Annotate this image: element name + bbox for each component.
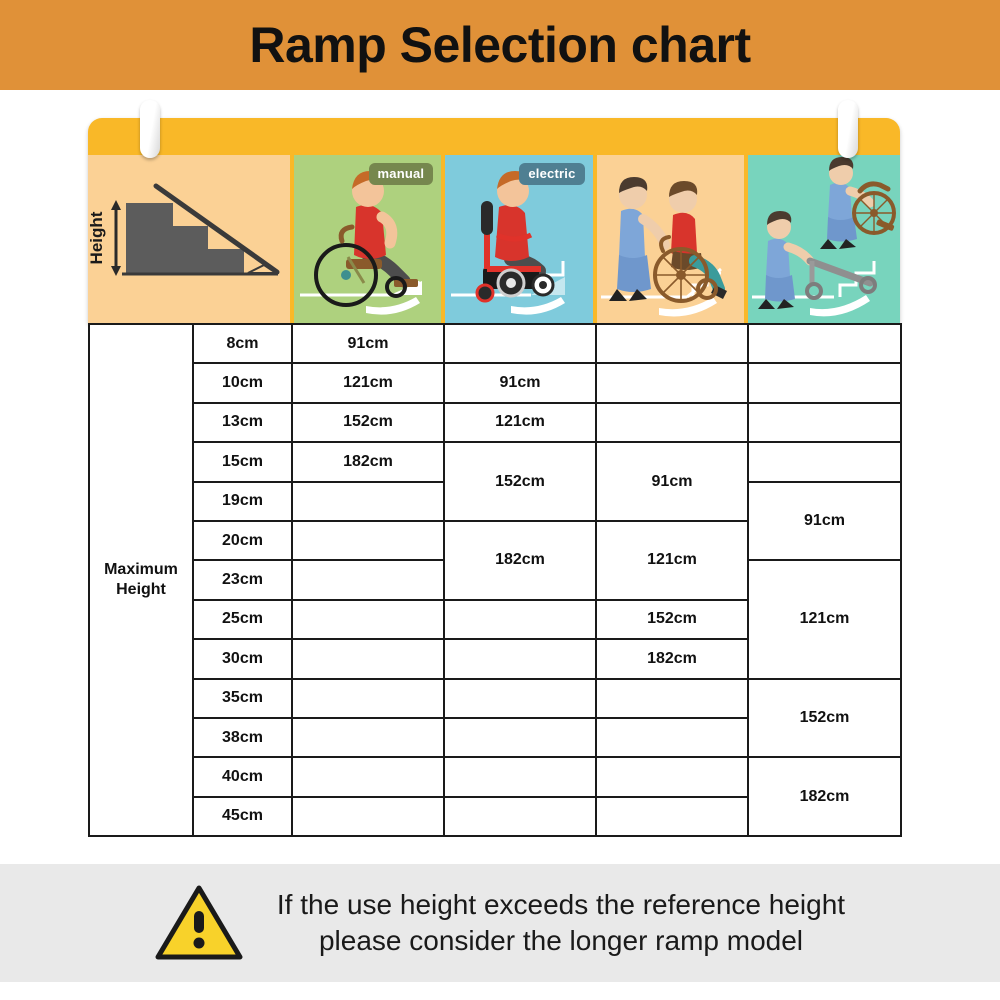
empty-cell-attendant <box>596 718 748 757</box>
height-cell: 10cm <box>193 363 292 402</box>
ramp-length-cell-carry: 182cm <box>748 757 901 836</box>
table-row: 35cm152cm <box>89 679 901 718</box>
ramp-length-cell-attendant: 91cm <box>596 442 748 521</box>
ramp-length-cell-electric: 182cm <box>444 521 596 600</box>
height-cell: 20cm <box>193 521 292 560</box>
empty-cell-carry <box>748 403 901 442</box>
page-title: Ramp Selection chart <box>249 20 750 70</box>
badge-electric: electric <box>519 163 584 185</box>
empty-cell-carry <box>748 324 901 363</box>
empty-cell-manual <box>292 757 444 796</box>
board-clip-right <box>838 100 858 158</box>
empty-cell-manual <box>292 482 444 521</box>
row-group-label-line-2: Height <box>90 580 192 600</box>
ramp-length-cell-manual: 121cm <box>292 363 444 402</box>
ramp-length-cell-attendant: 182cm <box>596 639 748 678</box>
header-panels: Height manual <box>88 155 900 323</box>
ramp-length-cell-manual: 182cm <box>292 442 444 481</box>
ramp-length-cell-electric: 152cm <box>444 442 596 521</box>
table-row: 13cm152cm121cm <box>89 403 901 442</box>
empty-cell-manual <box>292 639 444 678</box>
board-clip-left <box>140 100 160 158</box>
svg-text:Height: Height <box>88 211 106 264</box>
empty-cell-manual <box>292 521 444 560</box>
ramp-length-cell-attendant: 121cm <box>596 521 748 600</box>
warning-text: If the use height exceeds the reference … <box>277 887 845 959</box>
table-row: 40cm182cm <box>89 757 901 796</box>
panel-height-reference: Height <box>88 155 290 323</box>
empty-cell-manual <box>292 718 444 757</box>
table-row: 15cm182cm152cm91cm <box>89 442 901 481</box>
table-row: 10cm121cm91cm <box>89 363 901 402</box>
attendant-push-wheelchair-icon <box>597 155 744 323</box>
ramp-length-cell-manual: 152cm <box>292 403 444 442</box>
height-cell: 30cm <box>193 639 292 678</box>
empty-cell-electric <box>444 639 596 678</box>
empty-cell-attendant <box>596 797 748 836</box>
empty-cell-electric <box>444 718 596 757</box>
height-cell: 35cm <box>193 679 292 718</box>
ramp-length-cell-carry: 121cm <box>748 560 901 678</box>
table-body: MaximumHeight8cm91cm10cm121cm91cm13cm152… <box>89 324 901 836</box>
empty-cell-attendant <box>596 363 748 402</box>
empty-cell-attendant <box>596 403 748 442</box>
table-row: MaximumHeight8cm91cm <box>89 324 901 363</box>
height-cell: 13cm <box>193 403 292 442</box>
ramp-length-cell-electric: 91cm <box>444 363 596 402</box>
row-group-label: MaximumHeight <box>89 324 193 836</box>
empty-cell-electric <box>444 679 596 718</box>
panel-manual-wheelchair: manual <box>294 155 441 323</box>
ramp-selection-table: MaximumHeight8cm91cm10cm121cm91cm13cm152… <box>88 323 902 837</box>
height-cell: 8cm <box>193 324 292 363</box>
panel-electric-wheelchair: electric <box>445 155 592 323</box>
height-cell: 38cm <box>193 718 292 757</box>
panel-wheelchair-carry <box>748 155 900 323</box>
ramp-length-cell-carry: 152cm <box>748 679 901 758</box>
height-cell: 23cm <box>193 560 292 599</box>
warning-line-2: please consider the longer ramp model <box>277 923 845 959</box>
ramp-length-cell-electric: 121cm <box>444 403 596 442</box>
warning-line-1: If the use height exceeds the reference … <box>277 887 845 923</box>
empty-cell-manual <box>292 560 444 599</box>
empty-cell-carry <box>748 363 901 402</box>
ramp-length-cell-manual: 91cm <box>292 324 444 363</box>
ramp-length-cell-carry: 91cm <box>748 482 901 561</box>
height-cell: 15cm <box>193 442 292 481</box>
empty-cell-electric <box>444 600 596 639</box>
stairs-ramp-icon: Height <box>88 155 290 323</box>
empty-cell-manual <box>292 600 444 639</box>
panel-attendant-push <box>597 155 744 323</box>
warning-triangle-icon <box>155 883 243 963</box>
title-bar: Ramp Selection chart <box>0 0 1000 90</box>
empty-cell-carry <box>748 442 901 481</box>
height-cell: 45cm <box>193 797 292 836</box>
empty-cell-manual <box>292 679 444 718</box>
row-group-label-line-1: Maximum <box>90 560 192 580</box>
badge-manual: manual <box>369 163 434 185</box>
ramp-length-cell-attendant: 152cm <box>596 600 748 639</box>
empty-cell-electric <box>444 757 596 796</box>
height-cell: 25cm <box>193 600 292 639</box>
empty-cell-manual <box>292 797 444 836</box>
height-cell: 19cm <box>193 482 292 521</box>
empty-cell-electric <box>444 324 596 363</box>
empty-cell-electric <box>444 797 596 836</box>
wheelchair-carry-cart-icon <box>748 155 900 323</box>
empty-cell-attendant <box>596 679 748 718</box>
empty-cell-attendant <box>596 324 748 363</box>
empty-cell-attendant <box>596 757 748 796</box>
height-cell: 40cm <box>193 757 292 796</box>
warning-footer: If the use height exceeds the reference … <box>0 864 1000 982</box>
